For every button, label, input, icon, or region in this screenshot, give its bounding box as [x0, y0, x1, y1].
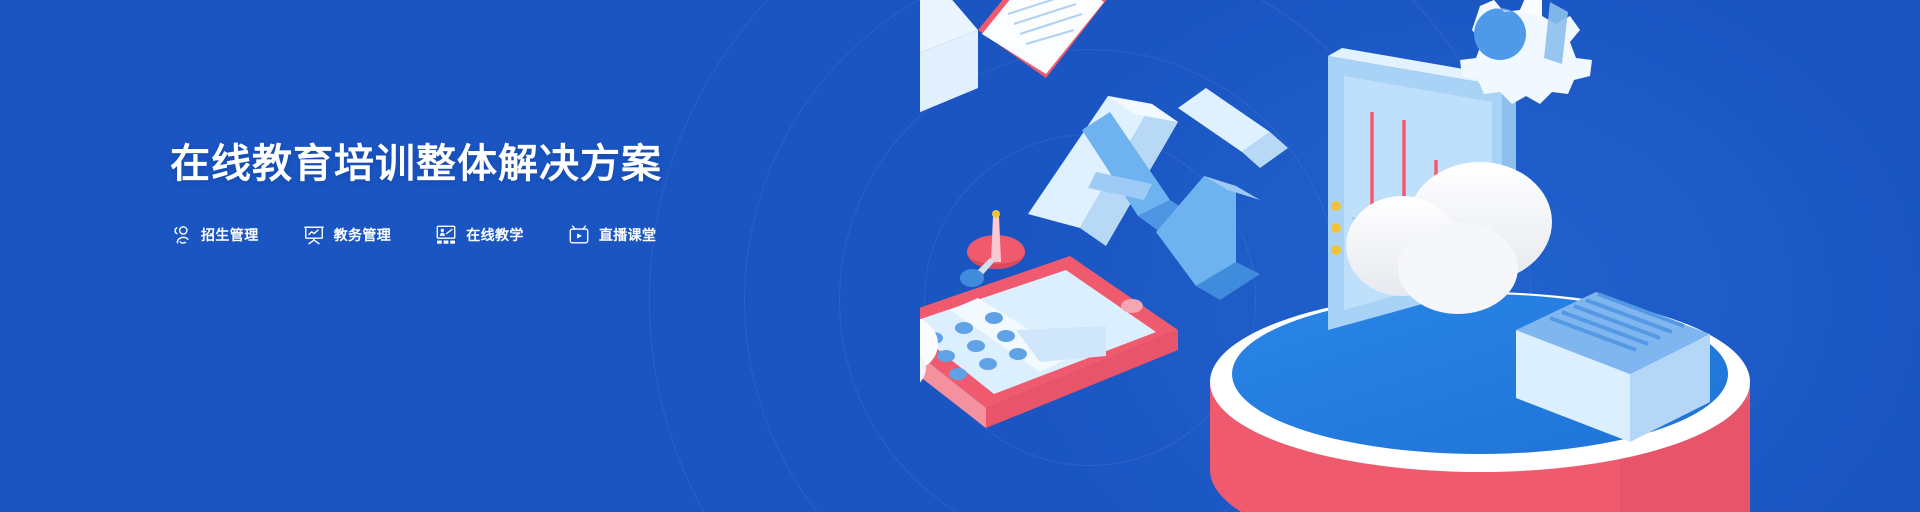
- feature-item-admissions[interactable]: 招生管理: [170, 224, 259, 246]
- feature-label: 在线教学: [466, 227, 524, 243]
- feature-item-live-classroom[interactable]: 直播课堂: [568, 224, 657, 246]
- hero-banner: 1 2 3 4 5 6: [0, 0, 1920, 512]
- feature-label: 直播课堂: [599, 227, 657, 243]
- whiteboard-classroom-icon: [435, 224, 457, 246]
- feature-list: 招生管理 教务管理: [170, 224, 810, 246]
- open-book: [920, 0, 1108, 118]
- illustration: 1 2 3 4 5 6: [920, 0, 1920, 512]
- presentation-chart-icon: [303, 224, 325, 246]
- video-play-icon: [568, 224, 590, 246]
- page-title: 在线教育培训整体解决方案: [170, 140, 810, 188]
- feature-item-online-teaching[interactable]: 在线教学: [435, 224, 524, 246]
- feature-label: 教务管理: [334, 227, 392, 243]
- users-icon: [170, 224, 192, 246]
- feature-item-academic-affairs[interactable]: 教务管理: [303, 224, 392, 246]
- spinning-top-icon: [960, 206, 1032, 296]
- copy-block: 在线教育培训整体解决方案 招生管理: [170, 140, 810, 246]
- feature-label: 招生管理: [201, 227, 259, 243]
- tablet-device: [920, 256, 1178, 428]
